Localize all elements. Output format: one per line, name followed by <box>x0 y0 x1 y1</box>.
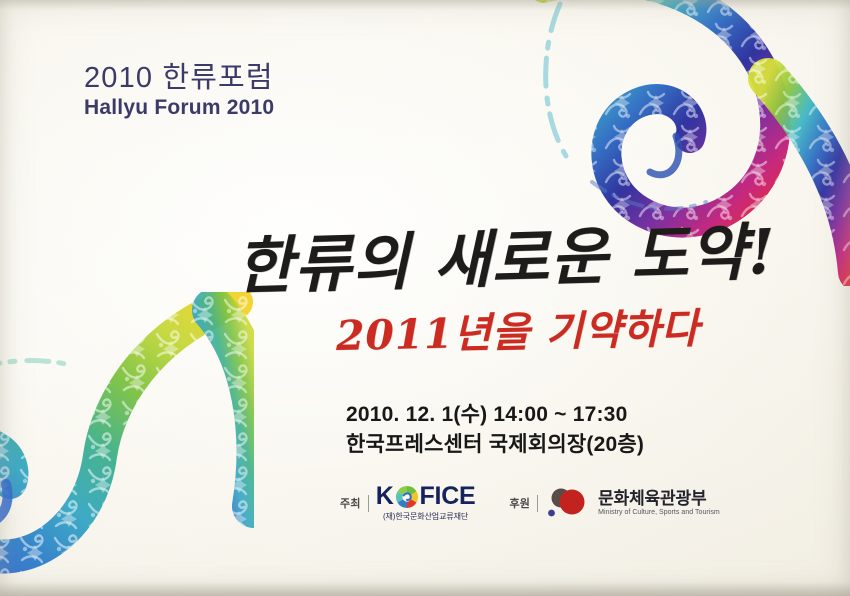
mcst-name-english: Ministry of Culture, Sports and Tourism <box>598 509 720 516</box>
forum-title-block: 2010 한류포럼 Hallyu Forum 2010 <box>84 62 274 120</box>
mcst-emblem-icon <box>545 486 591 520</box>
kofice-subtitle: (재)한국문화산업교류재단 <box>383 511 468 522</box>
forum-title-korean: 2010 한류포럼 <box>84 62 274 95</box>
kofice-pinwheel-icon <box>395 485 419 509</box>
kofice-wordmark-prefix: K <box>376 484 394 509</box>
event-venue: 한국프레스센터 국제회의장(20층) <box>346 430 706 460</box>
mcst-name-korean: 문화체육관광부 <box>598 490 720 508</box>
host-logo-group: 주최 K <box>340 484 475 522</box>
mcst-text-block: 문화체육관광부 Ministry of Culture, Sports and … <box>598 490 720 517</box>
forum-title-english: Hallyu Forum 2010 <box>84 96 274 120</box>
host-role-label: 주최 <box>340 495 361 511</box>
kofice-wordmark-suffix: FICE <box>420 484 476 509</box>
scan-bottom-shadow <box>0 582 850 596</box>
sponsor-role-divider <box>537 495 538 512</box>
footer-logo-row: 주최 K <box>340 484 720 522</box>
headline-block: 한류의 새로운 도약! 2011년을 기약하다 <box>236 236 766 357</box>
headline-sub-calligraphy: 2011년을 기약하다 <box>336 307 767 357</box>
poster-canvas: 2010 한류포럼 Hallyu Forum 2010 한류의 새로운 도약! … <box>0 0 850 596</box>
sponsor-role-label: 후원 <box>509 495 530 511</box>
scan-top-shadow <box>0 0 850 10</box>
event-info-block: 2010. 12. 1(수) 14:00 ~ 17:30 한국프레스센터 국제회… <box>346 400 706 460</box>
host-role-divider <box>368 495 369 512</box>
rainbow-swirl-bottom-left-icon <box>0 292 254 596</box>
kofice-wordmark: K FICE <box>376 484 476 509</box>
kofice-logo: K FICE <box>376 484 476 522</box>
event-datetime: 2010. 12. 1(수) 14:00 ~ 17:30 <box>346 400 706 430</box>
sponsor-logo-group: 후원 문화체육관광부 Ministry of Culture, Sports a… <box>509 486 719 520</box>
mcst-logo: 문화체육관광부 Ministry of Culture, Sports and … <box>545 486 720 520</box>
headline-main-calligraphy: 한류의 새로운 도약! <box>235 221 767 298</box>
